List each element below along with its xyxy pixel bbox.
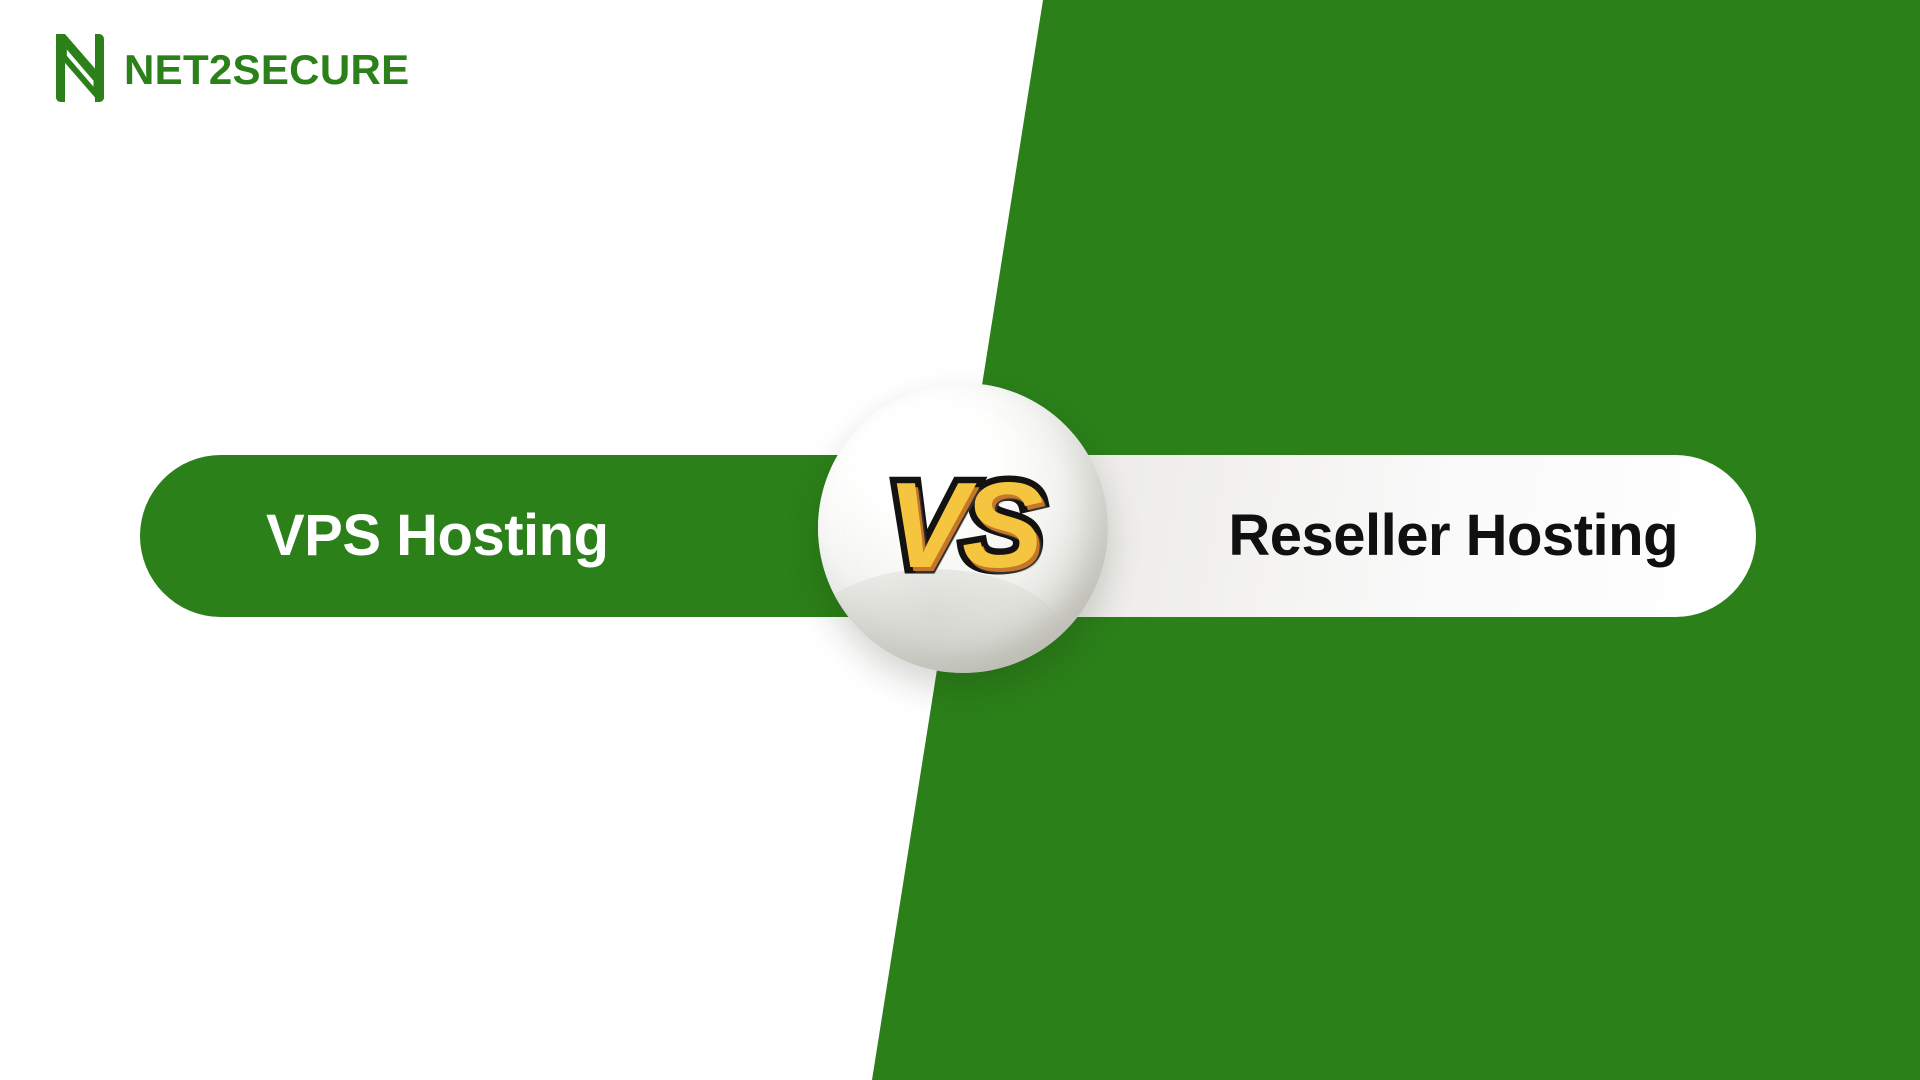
option-left-label: VPS Hosting — [266, 507, 609, 565]
logo-wordmark: NET2SECURE — [124, 49, 409, 91]
vs-sphere-icon: VS — [818, 383, 1108, 673]
n-monogram-icon — [52, 31, 108, 105]
comparison-banner: NET2SECURE VPS Hosting Reseller Hosting … — [0, 0, 1920, 1080]
vs-label: VS — [887, 464, 1038, 586]
option-right-label: Reseller Hosting — [1228, 507, 1678, 565]
brand-logo[interactable]: NET2SECURE — [52, 32, 409, 104]
